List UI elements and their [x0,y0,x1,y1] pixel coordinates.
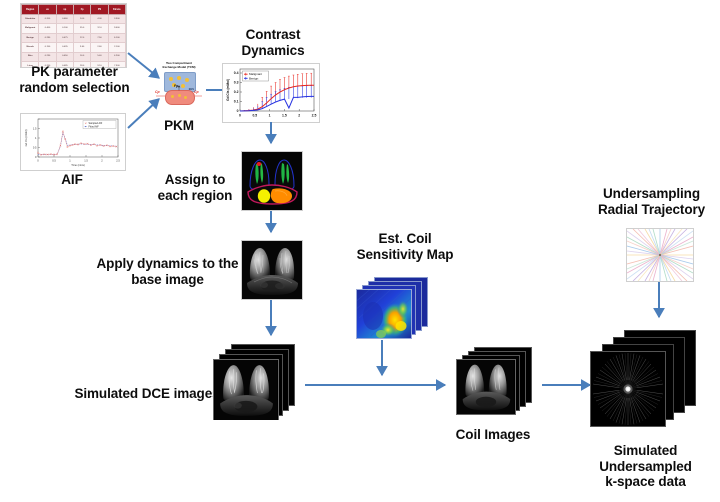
flow-rate-label: Fp [174,84,178,88]
pk-cell: 0.035 [56,43,73,52]
pk-col-ps: PS [91,5,108,15]
pk-cell: 7.50 [91,33,108,42]
kspace-stack [590,330,700,430]
coil-sensitivity-stack [356,277,438,339]
pk-cell-region: Benign [22,33,39,42]
kspace-line3: k-space data [578,474,713,490]
pk-col-fp: Fp [73,5,90,15]
pk-cell: 6.100 [108,33,125,42]
pk-col-vp: vp [56,5,73,15]
undersampling-line2: Radial Trajectory [583,202,720,218]
pk-cell: 0.100 [56,24,73,33]
coil-images-label: Coil Images [438,427,548,443]
svg-text:Fitted AIF: Fitted AIF [89,126,100,129]
svg-text:1: 1 [69,159,71,163]
radial-trajectory-plot [626,228,694,282]
pk-cell: 2.100 [108,43,125,52]
kspace-line1: Simulated [578,443,713,459]
pkm-diagram-thumbnail: Two Compartment Exchange Model (TCM) EES… [155,62,203,110]
pk-cell: 12.0 [91,24,108,33]
svg-text:Time (mins): Time (mins) [71,163,85,167]
svg-text:Gd Cts (mMol): Gd Cts (mMol) [226,79,230,101]
svg-text:Benign: Benign [249,76,259,80]
contrast-dynamics-plot: 0 0.1 0.2 0.3 0.4 0 0.5 1 1.5 2 2.5 Gd C… [222,63,320,123]
pk-cell: 0.150 [39,43,56,52]
table-row: Muscle 0.150 0.035 9.00 2.60 2.100 [22,43,126,52]
aif-label: AIF [22,172,122,188]
pk-cell: 0.400 [39,24,56,33]
pk-parameter-table-thumbnail: Region ve vp Fp PS Ktrans Glandular 0.20… [20,3,127,68]
contrast-dynamics-label: Contrast Dynamics [228,27,318,58]
undersampling-line1: Undersampling [583,186,720,202]
table-row: Malignant 0.400 0.100 35.0 12.0 9.400 [22,24,126,33]
svg-text:1.5: 1.5 [33,127,37,131]
radial-trajectory-svg [627,229,693,281]
undersampling-trajectory-label: Undersampling Radial Trajectory [583,186,720,217]
arrow-baseimage-to-dce [264,300,278,342]
arrow-contrast-to-regionmap [264,122,278,150]
svg-text:0: 0 [237,109,239,113]
simulated-dce-images-label: Simulated DCE images [72,386,222,402]
coil-sensitivity-map-label: Est. Coil Sensitivity Map [345,231,465,262]
svg-text:1: 1 [269,114,271,118]
pk-cell: 22.0 [73,33,90,42]
svg-text:2: 2 [101,159,103,163]
table-row: Glandular 0.200 0.060 14.0 4.00 3.300 [22,15,126,24]
contrast-dynamics-legend: Malignant Benign [243,71,269,81]
pk-cell: 3.300 [108,15,125,24]
contrast-dynamics-svg: 0 0.1 0.2 0.3 0.4 0 0.5 1 1.5 2 2.5 Gd C… [223,64,319,122]
svg-text:0.5: 0.5 [52,159,56,163]
aif-plot-thumbnail: 0 0.5 1 1.5 0 0.5 1 1.5 2 2.5 Time (mins… [20,113,126,171]
pk-cell: 9.00 [73,43,90,52]
coil-sensitivity-front [357,290,411,338]
aif-legend: Sampled AIF Fitted AIF [83,121,116,129]
pk-cell: 9.400 [108,24,125,33]
aif-plot-svg: 0 0.5 1 1.5 0 0.5 1 1.5 2 2.5 Time (mins… [21,114,125,170]
svg-text:1: 1 [35,136,37,140]
base-breast-mri-image [241,240,303,300]
pk-col-ve: ve [39,5,56,15]
coil-map-line1: Est. Coil [345,231,465,247]
plasma-out-label: Cp [194,90,199,94]
svg-text:1.5: 1.5 [84,159,88,163]
kspace-line2: Undersampled [578,459,713,475]
pkm-label: PKM [150,118,208,134]
svg-text:0.1: 0.1 [234,100,239,104]
table-row: Benign 0.280 0.075 22.0 7.50 6.100 [22,33,126,42]
pk-table-header-row: Region ve vp Fp PS Ktrans [22,5,126,15]
assign-line1: Assign to [145,172,245,188]
svg-text:0: 0 [37,159,39,163]
pk-cell: 16.0 [73,52,90,61]
svg-text:0: 0 [239,114,241,118]
pk-cell: 0.200 [39,15,56,24]
contrast-dynamics-line1: Contrast [228,27,318,43]
kspace-front-frame [591,352,665,426]
svg-text:0: 0 [35,155,37,159]
plasma-in-label: Cp [155,90,160,94]
pk-cell: 0.060 [56,15,73,24]
arrow-trajectory-to-kspace [652,282,666,324]
coil-front-slice [457,360,515,414]
pk-parameter-table: Region ve vp Fp PS Ktrans Glandular 0.20… [21,4,126,68]
region-map-svg [242,152,302,210]
pk-cell: 35.0 [73,24,90,33]
pk-cell: 5.40 [91,52,108,61]
dce-front-slice [214,360,278,420]
pk-cell-region: Skin [22,52,39,61]
assign-to-each-region-label: Assign to each region [145,172,245,203]
arrow-regionmap-to-baseimage [264,211,278,239]
svg-text:2.5: 2.5 [312,114,317,118]
svg-text:Gd Cts (mMol): Gd Cts (mMol) [24,129,28,146]
svg-text:2.5: 2.5 [116,159,120,163]
svg-text:0.2: 0.2 [234,90,239,94]
segmented-breast-region-map [241,151,303,211]
apply-line1: Apply dynamics to the [95,256,240,272]
svg-text:0.4: 0.4 [234,71,239,75]
pk-cell: 0.075 [56,33,73,42]
pk-cell: 4.200 [108,52,125,61]
svg-text:0.5: 0.5 [33,146,37,150]
pkm-flow-arrows [155,62,203,110]
pk-cell: 4.00 [91,15,108,24]
pk-cell: 0.280 [39,33,56,42]
pk-cell: 0.230 [39,52,56,61]
coil-image-stack [456,347,536,419]
pk-cell-region: Glandular [22,15,39,24]
pk-table-body: Glandular 0.200 0.060 14.0 4.00 3.300 Ma… [22,15,126,69]
pk-cell: 2.60 [91,43,108,52]
pk-cell-region: Muscle [22,43,39,52]
pk-col-ktrans: Ktrans [108,5,125,15]
svg-text:1.5: 1.5 [282,114,287,118]
pk-col-region: Region [22,5,39,15]
assign-line2: each region [145,188,245,204]
pk-cell-region: Malignant [22,24,39,33]
apply-line2: base image [95,272,240,288]
kspace-label: Simulated Undersampled k-space data [578,443,713,490]
pk-cell: 0.050 [56,52,73,61]
simulated-dce-stack [213,344,295,420]
svg-text:2: 2 [298,114,300,118]
svg-text:0.3: 0.3 [234,81,239,85]
table-row: Skin 0.230 0.050 16.0 5.40 4.200 [22,52,126,61]
svg-text:0.5: 0.5 [252,114,257,118]
base-mri-svg [242,241,302,299]
arrow-coilmap-to-junction [375,340,389,382]
coil-map-line2: Sensitivity Map [345,247,465,263]
contrast-dynamics-line2: Dynamics [228,43,318,59]
pk-cell: 14.0 [73,15,90,24]
apply-dynamics-label: Apply dynamics to the base image [95,256,240,287]
